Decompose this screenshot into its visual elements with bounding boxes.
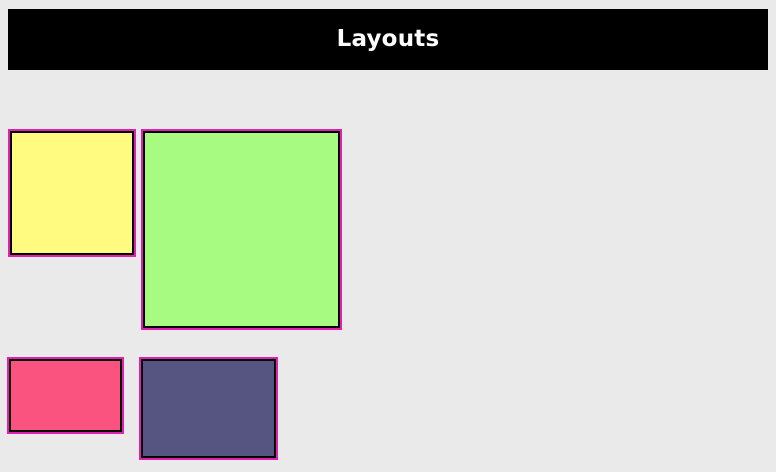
yellow-box[interactable] (8, 129, 136, 257)
layouts-page: Layouts (0, 0, 776, 472)
page-title: Layouts (337, 28, 440, 51)
pink-box[interactable] (7, 357, 124, 434)
purple-box[interactable] (139, 357, 278, 460)
green-box-fill (143, 131, 340, 328)
top-row (0, 70, 776, 330)
green-box[interactable] (141, 129, 342, 330)
pink-box-fill (9, 359, 122, 432)
bottom-row (0, 330, 776, 460)
purple-box-fill (141, 359, 276, 458)
header-bar: Layouts (8, 9, 768, 70)
box-rows-container (0, 70, 776, 460)
yellow-box-fill (10, 131, 134, 255)
